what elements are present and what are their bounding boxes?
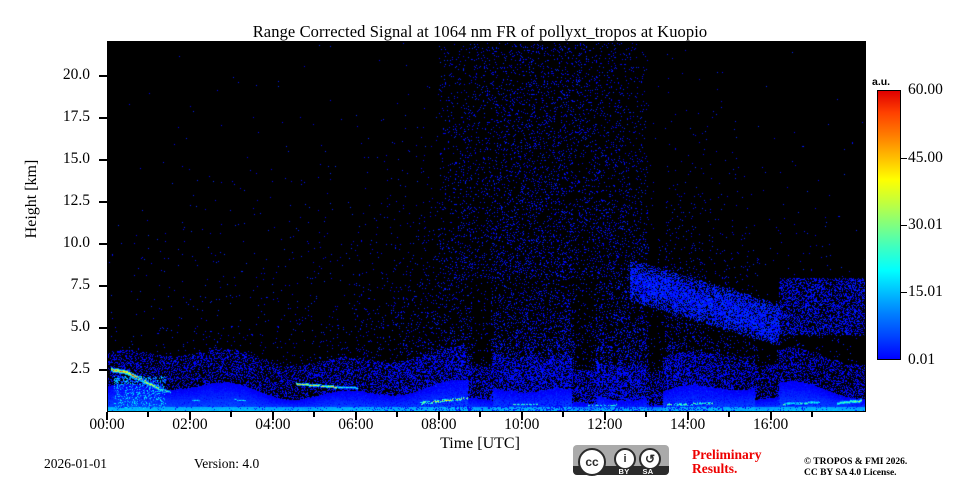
colorbar-tick-mark — [901, 292, 907, 293]
y-tick-mark — [99, 117, 107, 119]
creative-commons-badge[interactable]: cc i ↺ BY SA — [573, 445, 669, 475]
x-axis-label: Time [UTC] — [0, 435, 960, 453]
x-tick-label: 02:00 — [150, 416, 230, 434]
copyright-line-2: CC BY SA 4.0 License. — [804, 468, 954, 479]
heatmap-canvas — [107, 41, 866, 412]
y-tick-label: 20.0 — [28, 67, 90, 82]
y-tick-mark — [99, 75, 107, 77]
version-label: Version: 4.0 — [194, 456, 259, 472]
colorbar-tick-label: 45.00 — [908, 149, 960, 167]
x-tick-minor — [479, 412, 481, 417]
y-tick-label: 12.5 — [28, 193, 90, 208]
x-tick-minor — [562, 412, 564, 417]
y-tick-mark — [99, 243, 107, 245]
colorbar-unit-label: a.u. — [872, 76, 912, 88]
x-tick-label: 10:00 — [482, 416, 562, 434]
x-tick-label: 06:00 — [316, 416, 396, 434]
x-tick-label: 00:00 — [67, 416, 147, 434]
x-tick-minor — [645, 412, 647, 417]
y-tick-label: 10.0 — [28, 235, 90, 250]
measurement-date: 2026-01-01 — [44, 456, 107, 472]
y-tick-label: 7.5 — [28, 277, 90, 292]
x-tick-label: 14:00 — [648, 416, 728, 434]
figure-title: Range Corrected Signal at 1064 nm FR of … — [0, 22, 960, 42]
preliminary-results-notice: Preliminary Results. — [692, 448, 802, 476]
x-tick-label: 16:00 — [731, 416, 811, 434]
colorbar-tick-label: 15.01 — [908, 283, 960, 301]
y-tick-mark — [99, 159, 107, 161]
colorbar-tick-label: 60.00 — [908, 81, 960, 99]
y-tick-mark — [99, 327, 107, 329]
colorbar-gradient — [877, 90, 901, 360]
colorbar-tick-label: 30.01 — [908, 216, 960, 234]
y-tick-mark — [99, 369, 107, 371]
copyright-line-1: © TROPOS & FMI 2026. — [804, 457, 954, 468]
colorbar-tick-label: 0.01 — [908, 351, 960, 369]
lidar-quicklook-figure: Range Corrected Signal at 1064 nm FR of … — [0, 0, 960, 480]
y-tick-label: 17.5 — [28, 109, 90, 124]
x-tick-minor — [396, 412, 398, 417]
y-tick-mark — [99, 285, 107, 287]
x-tick-minor — [230, 412, 232, 417]
colorbar-tick-mark — [901, 225, 907, 226]
heatmap-plot-area — [107, 41, 866, 412]
y-tick-label: 2.5 — [28, 361, 90, 376]
y-tick-mark — [99, 201, 107, 203]
x-tick-minor — [728, 412, 730, 417]
x-tick-minor — [811, 412, 813, 417]
x-tick-label: 12:00 — [565, 416, 645, 434]
y-tick-label: 5.0 — [28, 319, 90, 334]
cc-by-label: BY — [614, 467, 634, 476]
x-tick-label: 04:00 — [233, 416, 313, 434]
colorbar-tick-mark — [901, 158, 907, 159]
copyright-notice: © TROPOS & FMI 2026. CC BY SA 4.0 Licens… — [804, 457, 954, 479]
x-tick-label: 08:00 — [399, 416, 479, 434]
cc-logo-icon: cc — [578, 448, 606, 476]
x-tick-minor — [147, 412, 149, 417]
cc-sa-label: SA — [638, 467, 658, 476]
x-tick-minor — [313, 412, 315, 417]
y-tick-label: 15.0 — [28, 151, 90, 166]
